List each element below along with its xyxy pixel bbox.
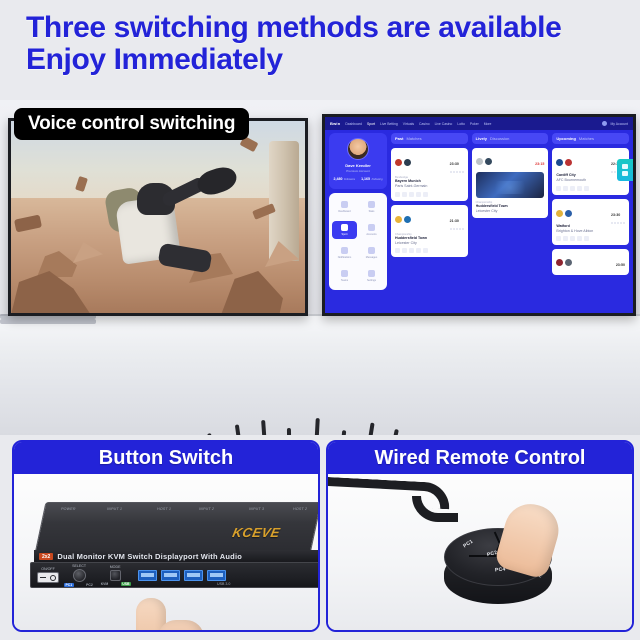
usb-port[interactable] [184,570,203,581]
wallet-icon [368,224,375,231]
match-card-top: 23:30 [395,152,464,173]
sidebar-item-label: Notifications [338,256,352,259]
column-past: Past Matches 23:30 Bundesliga Bayern Mun… [391,133,468,309]
sidebar-item-settings[interactable]: Settings [359,267,384,285]
remote-button-pc1[interactable]: PC1 [462,539,474,550]
match-photo [476,172,545,198]
panel-title: Button Switch [99,447,233,470]
desk-scene: Bwin Dashboard Sport Live Betting Virtua… [0,100,640,435]
match-team-2: Leicester City [476,209,545,214]
rear-label-host1: HOST 1 [157,507,172,511]
cable [235,424,248,435]
led-kvm: KVM [99,582,110,586]
sidebar-item-teams[interactable]: Teams [332,267,357,285]
panel-body: POWER INPUT 1 HOST 1 INPUT 2 INPUT 3 HOS… [14,474,318,630]
match-card-top: 23:50 [556,253,625,271]
sports-dashboard: Bwin Dashboard Sport Live Betting Virtua… [325,117,633,313]
avatar-icon [602,121,607,126]
select-knob-label: SELECT [72,564,86,568]
rear-label-input1: INPUT 1 [107,507,123,511]
nav-item-casino[interactable]: Casino [419,122,430,126]
cable [336,430,346,435]
team-logo-icon [556,259,563,266]
match-time-value: 23:30 [611,213,620,217]
game-tower [269,141,299,261]
cable [312,418,320,435]
nav-item-dashboard[interactable]: Dashboard [345,122,362,126]
chart-icon [341,201,348,208]
team-logo-icon [556,210,563,217]
sidebar-menu: Dashboard Stats Sport Accounts Notificat… [329,193,387,290]
headline-line-1: Three switching methods are available [26,11,561,44]
sidebar-item-label: Accounts [366,233,376,236]
sidebar-item-label: Stats [369,210,375,213]
team-logos [476,158,492,165]
match-card-footer [395,248,464,253]
sidebar-item-stats[interactable]: Stats [359,198,384,216]
monitor-base-right [0,319,96,324]
remote-cable-bend [412,496,458,522]
device-top-face: POWER INPUT 1 HOST 1 INPUT 2 INPUT 3 HOS… [34,502,318,554]
rear-label-input3: INPUT 3 [249,507,265,511]
stat-followers-value: 2,480 [333,177,342,181]
sidebar-item-label: Dashboard [338,210,350,213]
stat-following-value: 1,165 [361,177,370,181]
match-card-top: 21:30 [395,209,464,230]
cable [382,429,399,435]
ball-icon [341,224,348,231]
nav-account-label: My Account [610,122,628,126]
mode-button[interactable]: MODE KVM USB [99,565,131,586]
select-knob[interactable]: SELECT PC1 PC2 [64,564,94,587]
column-subtitle: Matches [406,136,421,141]
usb-group-label: USB 3.0 [217,582,230,586]
side-action-panel[interactable] [617,159,633,181]
match-time-value: 23:50 [616,263,625,267]
dashboard-sidebar: Dave Kendler Premium Account 2,480 Follo… [329,133,387,309]
stat-following-label: Following [372,178,383,181]
match-card[interactable]: 23:50 [552,249,629,275]
panel-body: PC1 PC2 PC3 PC4 MODE [328,474,632,630]
cable-bundle [214,418,426,435]
panel-header: Wired Remote Control [328,442,632,474]
kvm-switch-closeup: POWER INPUT 1 HOST 1 INPUT 2 INPUT 3 HOS… [30,502,318,586]
column-title: Upcoming [556,136,576,141]
knob-icon[interactable] [73,569,86,582]
monitor-left [8,118,308,316]
match-team-2: Leicester City [395,241,464,246]
team-logo-icon [476,158,483,165]
device-brand: KCEVE [231,525,281,540]
nav-item-sport[interactable]: Sport [367,122,375,126]
match-card-footer [556,186,625,191]
team-logo-icon [565,159,572,166]
column-header: Lively Discussion [472,133,549,144]
rear-label-host2: HOST 2 [293,507,308,511]
match-time-value: 23:15 [535,162,544,166]
wired-remote-device: PC1 PC2 PC3 PC4 MODE [440,520,556,612]
column-subtitle: Discussion [490,136,509,141]
nav-account[interactable]: My Account [602,121,628,126]
mail-icon [368,247,375,254]
team-logo-icon [565,259,572,266]
rating-dots [450,171,464,173]
nav-item-lotto[interactable]: Lotto [457,122,465,126]
match-card[interactable]: 23:15 Championship Huddersfield Town Lei… [472,148,549,218]
ticket-icon [622,164,628,169]
usb-port[interactable] [138,570,157,581]
avatar [347,138,369,160]
monitor-right: Bwin Dashboard Sport Live Betting Virtua… [322,114,636,316]
usb-port[interactable] [161,570,180,581]
team-logos [395,159,411,166]
select-leds: PC1 PC2 [64,583,94,587]
panel-header: Button Switch [14,442,318,474]
device-front-panel: ON/OFF SELECT PC1 PC2 MODE [30,562,318,588]
stat-followers: 2,480 Followers [333,177,355,181]
led-usb: USB [121,582,131,586]
rear-label-input2: INPUT 2 [199,507,215,511]
sidebar-item-dashboard[interactable]: Dashboard [332,198,357,216]
match-team-2: Brighton & Hove Albion [556,229,625,234]
game-screen [11,121,305,313]
match-time: 23:50 [616,253,625,271]
match-card[interactable]: 23:30 Bundesliga Bayern Munich Paris Sai… [391,148,468,201]
desk-surface [0,314,640,435]
sidebar-item-sport[interactable]: Sport [332,221,357,239]
match-time-value: 21:30 [450,219,459,223]
team-logos [556,159,572,166]
nav-item-more[interactable]: More [484,122,492,126]
team-logo-icon [395,216,402,223]
dashboard-logo: Bwin [330,121,340,126]
product-marketing-image: Three switching methods are available En… [0,0,640,640]
team-logos [556,210,572,217]
profile-card: Dave Kendler Premium Account 2,480 Follo… [329,133,387,189]
cable [261,420,270,435]
match-card-top: 23:15 [476,152,545,170]
column-title: Lively [476,136,487,141]
match-card-footer [395,192,464,197]
dashboard-navbar: Bwin Dashboard Sport Live Betting Virtua… [325,117,633,130]
power-switch[interactable]: ON/OFF [37,567,59,583]
rear-label-power: POWER [61,507,76,511]
sidebar-item-messages[interactable]: Messages [359,244,384,262]
nav-item-live-casino[interactable]: Live Casino [435,122,453,126]
match-time-value: 23:30 [450,162,459,166]
match-team-2: Paris Saint-Germain [395,184,464,189]
sidebar-item-label: Sport [342,233,348,236]
match-card-footer [556,236,625,241]
rating-dots [450,228,464,230]
voice-control-label: Voice control switching [28,113,235,134]
stat-following: 1,165 Following [361,177,382,181]
sidebar-item-accounts[interactable]: Accounts [359,221,384,239]
cable [207,433,224,435]
voice-control-badge: Voice control switching [14,108,249,140]
sidebar-item-label: Messages [366,256,377,259]
stat-followers-label: Followers [344,178,355,181]
team-logos [556,259,572,266]
column-subtitle: Matches [579,136,594,141]
people-icon [341,270,348,277]
bars-icon [368,201,375,208]
sidebar-item-label: Teams [341,279,348,282]
team-logo-icon [485,158,492,165]
nav-item-virtuals[interactable]: Virtuals [403,122,414,126]
mode-leds: KVM USB [99,582,131,586]
mode-button-icon[interactable] [110,570,121,581]
match-card[interactable]: 23:30 Watford Brighton & Hove Albion [552,199,629,246]
led-pc1: PC1 [64,583,74,587]
led-pc2: PC2 [85,583,95,587]
sidebar-item-notifications[interactable]: Notifications [332,244,357,262]
team-logo-icon [565,210,572,217]
match-card-top: 23:30 [556,203,625,224]
nav-item-poker[interactable]: Poker [470,122,479,126]
column-lively: Lively Discussion 23:15 Championship [472,133,549,309]
match-card-top: 22:30 [556,152,625,173]
dashboard-columns: Past Matches 23:30 Bundesliga Bayern Mun… [391,133,629,309]
bet-slip-icon [622,171,628,176]
match-team-2: AFC Bournemouth [556,178,625,183]
gear-icon [368,270,375,277]
column-header: Upcoming Matches [552,133,629,144]
column-title: Past [395,136,403,141]
cable [360,423,375,435]
cable [287,428,292,435]
team-logos [395,216,411,223]
dashboard-screen: Bwin Dashboard Sport Live Betting Virtua… [325,117,633,313]
panel-button-switch: Button Switch POWER INPUT 1 HOST 1 INPUT… [12,440,320,632]
device-badge: 2x2 [39,553,53,560]
usb-port-group [138,570,226,581]
match-time: 23:30 [611,203,625,224]
pointing-finger [493,498,564,580]
rating-dots [611,222,625,224]
match-time: 23:30 [450,152,464,173]
team-logo-icon [395,159,402,166]
panel-wired-remote: Wired Remote Control PC1 PC2 PC3 PC4 MOD… [326,440,634,632]
profile-stats: 2,480 Followers 1,165 Following [333,177,382,181]
team-logo-icon [404,216,411,223]
bell-icon [341,247,348,254]
match-card[interactable]: 21:30 Championship Huddersfield Town Lei… [391,205,468,258]
power-switch-label: ON/OFF [41,567,55,571]
page-title: Three switching methods are available En… [26,12,626,77]
nav-item-live-betting[interactable]: Live Betting [380,122,398,126]
usb-port[interactable] [207,570,226,581]
device-title: Dual Monitor KVM Switch Displayport With… [57,552,242,561]
profile-name: Dave Kendler [345,163,371,168]
power-rocker-icon[interactable] [37,572,59,583]
sidebar-item-label: Settings [367,279,376,282]
match-time: 23:15 [535,152,544,170]
headline-line-2: Enjoy Immediately [26,44,626,76]
match-time: 21:30 [450,209,464,230]
mode-button-label: MODE [110,565,121,569]
profile-subtitle: Premium Account [346,169,370,173]
panel-title: Wired Remote Control [375,447,586,470]
team-logo-icon [556,159,563,166]
team-logo-icon [404,159,411,166]
column-header: Past Matches [391,133,468,144]
